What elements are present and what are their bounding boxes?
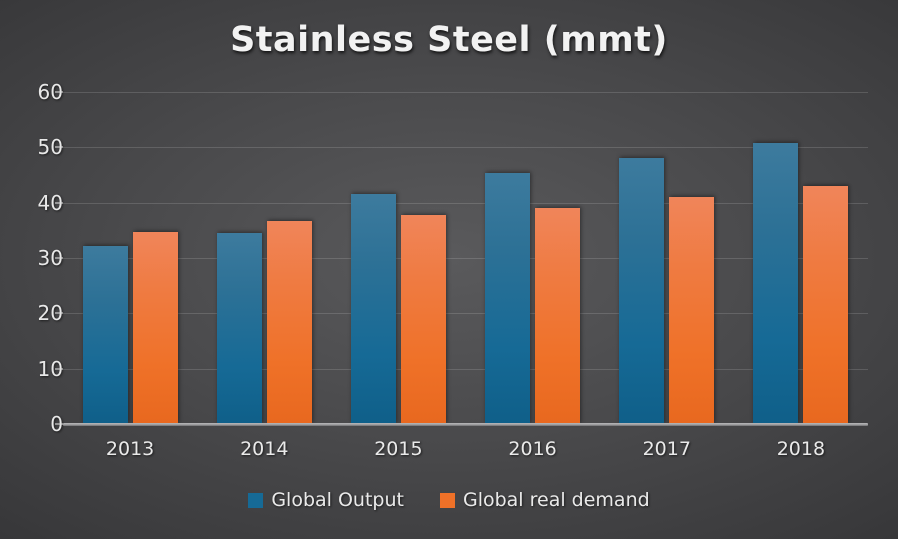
y-axis-tick-mark bbox=[55, 312, 63, 314]
y-axis-tick-mark bbox=[55, 423, 63, 425]
bar-2016-global-real-demand[interactable] bbox=[535, 208, 580, 424]
y-axis-tick-mark bbox=[55, 257, 63, 259]
bar-2015-global-real-demand[interactable] bbox=[401, 215, 446, 424]
chart-title: Stainless Steel (mmt) bbox=[0, 20, 898, 60]
x-axis-tick-label: 2018 bbox=[736, 438, 866, 460]
bar-2013-global-real-demand[interactable] bbox=[133, 232, 178, 424]
legend-label: Global real demand bbox=[463, 489, 650, 511]
x-axis-tick-label: 2014 bbox=[199, 438, 329, 460]
bar-2018-global-real-demand[interactable] bbox=[803, 186, 848, 424]
x-axis-tick-label: 2016 bbox=[468, 438, 598, 460]
bar-2017-global-output[interactable] bbox=[619, 158, 664, 424]
gridline bbox=[63, 147, 868, 148]
y-axis-tick-mark bbox=[55, 91, 63, 93]
plot-area bbox=[63, 92, 868, 424]
gridline bbox=[63, 258, 868, 259]
legend-swatch-icon bbox=[440, 493, 455, 508]
bar-2014-global-output[interactable] bbox=[217, 233, 262, 424]
gridline bbox=[63, 369, 868, 370]
legend-label: Global Output bbox=[271, 489, 404, 511]
gridline bbox=[63, 92, 868, 93]
y-axis: 0102030405060 bbox=[0, 92, 63, 424]
bar-2016-global-output[interactable] bbox=[485, 173, 530, 424]
bar-2017-global-real-demand[interactable] bbox=[669, 197, 714, 424]
gridline bbox=[63, 313, 868, 314]
chart-legend: Global OutputGlobal real demand bbox=[0, 489, 898, 511]
x-axis-tick-label: 2017 bbox=[602, 438, 732, 460]
legend-swatch-icon bbox=[248, 493, 263, 508]
legend-item-global-output[interactable]: Global Output bbox=[248, 489, 404, 511]
y-axis-tick-mark bbox=[55, 146, 63, 148]
bar-2015-global-output[interactable] bbox=[351, 194, 396, 424]
x-axis-line bbox=[63, 423, 868, 426]
bar-2018-global-output[interactable] bbox=[753, 143, 798, 424]
chart-figure: Stainless Steel (mmt) 0102030405060 Glob… bbox=[0, 0, 898, 539]
x-axis-tick-label: 2013 bbox=[65, 438, 195, 460]
y-axis-tick-mark bbox=[55, 368, 63, 370]
y-axis-tick-mark bbox=[55, 202, 63, 204]
gridline bbox=[63, 203, 868, 204]
legend-item-global-real-demand[interactable]: Global real demand bbox=[440, 489, 650, 511]
bar-2014-global-real-demand[interactable] bbox=[267, 221, 312, 424]
x-axis-tick-label: 2015 bbox=[333, 438, 463, 460]
bar-2013-global-output[interactable] bbox=[83, 246, 128, 424]
